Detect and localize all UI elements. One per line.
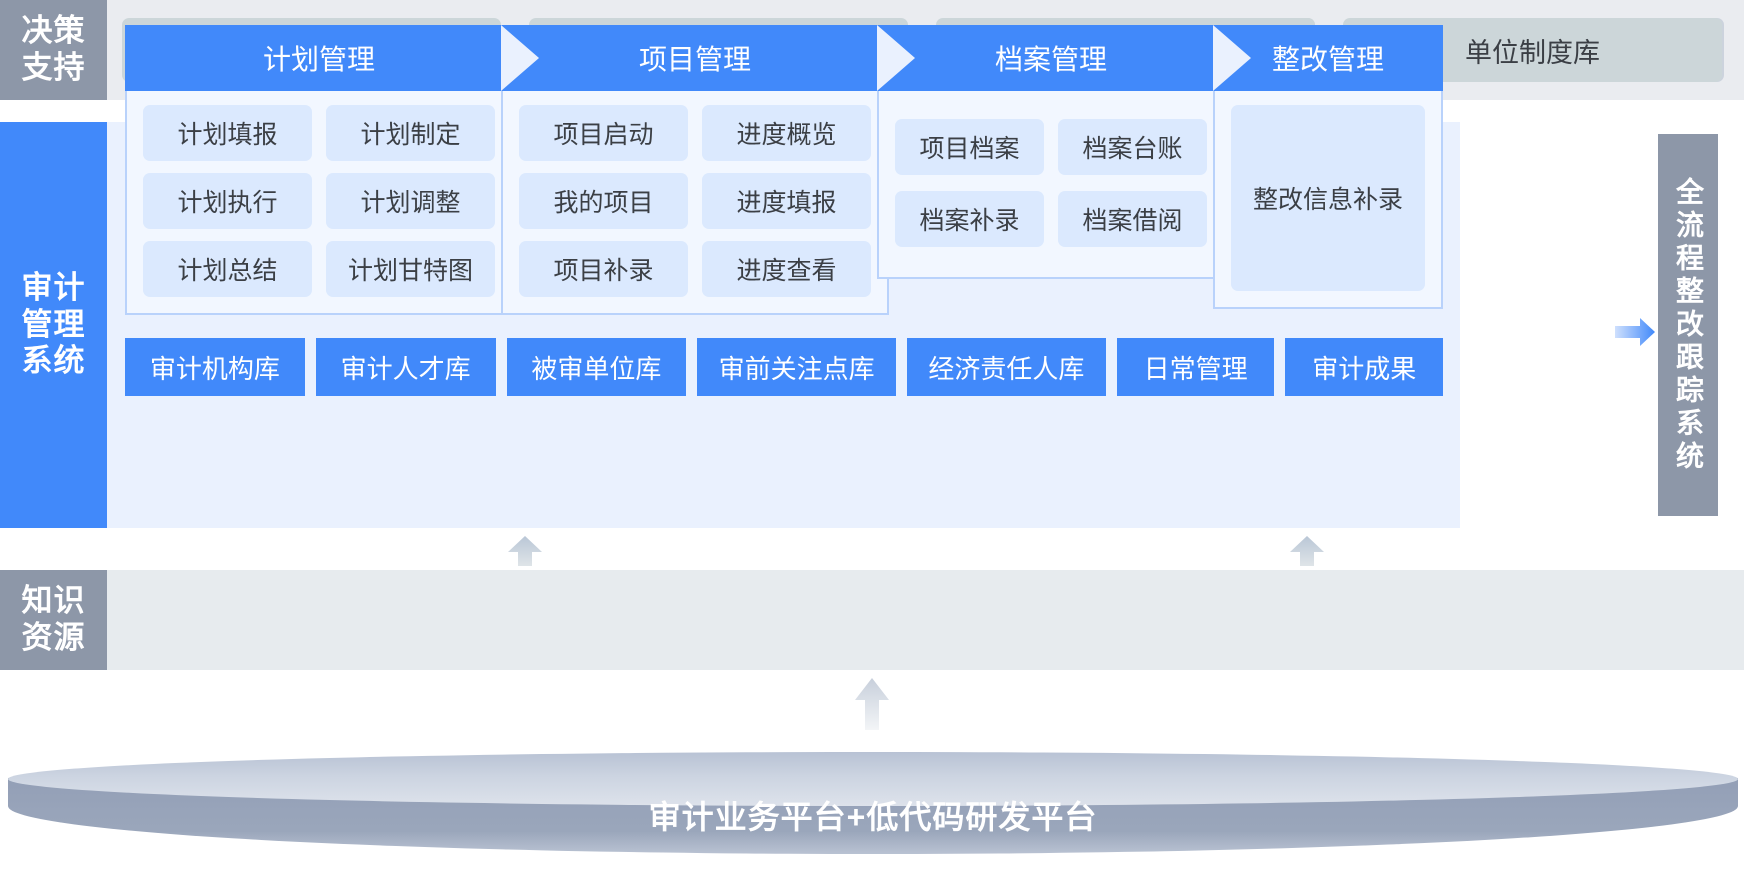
chevron-notch-icon <box>1213 25 1251 91</box>
library-audit-results[interactable]: 审计成果 <box>1285 338 1443 396</box>
sub-item-progress-filing[interactable]: 进度填报 <box>702 173 871 229</box>
process-body-plan-management: 计划填报 计划制定 计划执行 计划调整 计划总结 计划甘特图 <box>125 91 513 315</box>
library-audited-unit[interactable]: 被审单位库 <box>507 338 687 396</box>
knowledge-resources-label-line-2: 资源 <box>19 620 87 657</box>
library-audit-talent[interactable]: 审计人才库 <box>316 338 496 396</box>
right-arrow-icon <box>1615 318 1655 346</box>
process-title-archive-management: 档案管理 <box>995 38 1107 78</box>
audit-system-label-line-3: 系统 <box>19 343 87 380</box>
audit-system-label: 审计 管理 系统 <box>0 122 107 528</box>
audit-system-content: 计划管理 计划填报 计划制定 计划执行 计划调整 计划总结 计划甘特图 项目管理… <box>107 0 1460 406</box>
process-body-project-management: 项目启动 进度概览 我的项目 进度填报 项目补录 进度查看 <box>501 91 889 315</box>
process-header-project-management[interactable]: 项目管理 <box>501 25 889 91</box>
decision-support-label-line-2: 支持 <box>19 50 87 87</box>
sub-item-my-projects[interactable]: 我的项目 <box>519 173 688 229</box>
sub-item-plan-adjustment[interactable]: 计划调整 <box>326 173 495 229</box>
library-audit-org[interactable]: 审计机构库 <box>125 338 305 396</box>
audit-system-label-line-2: 管理 <box>19 307 87 344</box>
process-title-plan-management: 计划管理 <box>263 38 375 78</box>
sub-item-archive-borrow[interactable]: 档案借阅 <box>1058 191 1207 247</box>
sub-item-project-archive[interactable]: 项目档案 <box>895 119 1044 175</box>
process-column-plan-management: 计划管理 计划填报 计划制定 计划执行 计划调整 计划总结 计划甘特图 <box>125 25 513 315</box>
process-header-archive-management[interactable]: 档案管理 <box>877 25 1225 91</box>
up-arrow-to-audit-2 <box>1290 536 1324 566</box>
process-title-project-management: 项目管理 <box>639 38 751 78</box>
rectification-tracking-system-bar: 全流程整改跟踪系统 <box>1658 134 1718 516</box>
knowledge-resources-label-line-1: 知识 <box>19 583 87 620</box>
decision-support-label-line-1: 决策 <box>19 13 87 50</box>
platform-cylinder: 审计业务平台+低代码研发平台 <box>8 752 1738 880</box>
sub-item-plan-formulation[interactable]: 计划制定 <box>326 105 495 161</box>
sub-item-archive-ledger[interactable]: 档案台账 <box>1058 119 1207 175</box>
sub-item-progress-view[interactable]: 进度查看 <box>702 241 871 297</box>
library-economic-responsibility[interactable]: 经济责任人库 <box>907 338 1106 396</box>
process-body-rectification-management: 整改信息补录 <box>1213 91 1443 309</box>
process-column-project-management: 项目管理 项目启动 进度概览 我的项目 进度填报 项目补录 进度查看 <box>501 25 889 315</box>
decision-support-label: 决策 支持 <box>0 0 107 100</box>
chevron-notch-icon <box>501 25 539 91</box>
sub-item-rectification-info-supplement[interactable]: 整改信息补录 <box>1231 105 1425 291</box>
audit-system-label-line-1: 审计 <box>19 270 87 307</box>
knowledge-resources-band <box>0 570 1744 670</box>
process-body-archive-management: 项目档案 档案台账 档案补录 档案借阅 <box>877 91 1225 279</box>
sub-item-plan-summary[interactable]: 计划总结 <box>143 241 312 297</box>
sub-item-project-start[interactable]: 项目启动 <box>519 105 688 161</box>
process-column-archive-management: 档案管理 项目档案 档案台账 档案补录 档案借阅 <box>877 25 1225 279</box>
sub-item-project-supplement[interactable]: 项目补录 <box>519 241 688 297</box>
process-title-rectification-management: 整改管理 <box>1272 38 1384 78</box>
process-header-plan-management[interactable]: 计划管理 <box>125 25 513 91</box>
library-pre-audit-focus[interactable]: 审前关注点库 <box>697 338 896 396</box>
sub-item-archive-supplement[interactable]: 档案补录 <box>895 191 1044 247</box>
chevron-notch-icon <box>877 25 915 91</box>
sub-item-plan-gantt[interactable]: 计划甘特图 <box>326 241 495 297</box>
up-arrow-to-audit-1 <box>508 536 542 566</box>
library-daily-management[interactable]: 日常管理 <box>1117 338 1275 396</box>
sub-item-plan-filing[interactable]: 计划填报 <box>143 105 312 161</box>
architecture-diagram: 决策 支持 项目统计分析 问题统计分析 机构人员情况 系统使用统计 审计 管理 <box>0 0 1744 890</box>
knowledge-resources-label: 知识 资源 <box>0 570 107 670</box>
process-header-rectification-management[interactable]: 整改管理 <box>1213 25 1443 91</box>
sub-item-plan-execution[interactable]: 计划执行 <box>143 173 312 229</box>
sub-item-progress-overview[interactable]: 进度概览 <box>702 105 871 161</box>
platform-label: 审计业务平台+低代码研发平台 <box>8 792 1738 838</box>
process-column-rectification-management: 整改管理 整改信息补录 <box>1213 25 1443 309</box>
rectification-tracking-system-label: 全流程整改跟踪系统 <box>1674 177 1702 474</box>
library-row: 审计机构库 审计人才库 被审单位库 审前关注点库 经济责任人库 日常管理 审计成… <box>125 338 1443 396</box>
up-arrow-to-knowledge <box>855 678 889 730</box>
